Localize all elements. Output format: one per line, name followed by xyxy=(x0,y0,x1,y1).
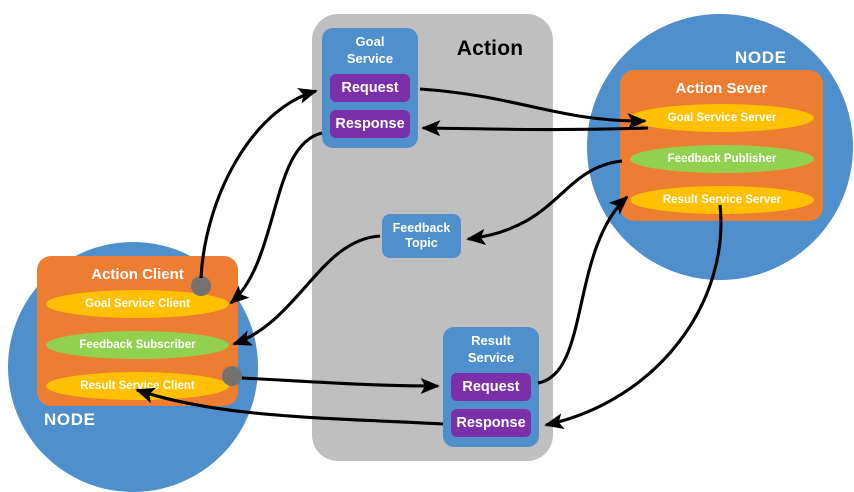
goal-client-connector-dot xyxy=(191,276,211,296)
result-service-title-line2: Service xyxy=(443,349,539,366)
result-service-client-pill: Result Service Client xyxy=(46,372,229,400)
goal-service-title: Goal Service xyxy=(322,33,418,67)
result-service-request: Request xyxy=(451,373,531,401)
client-node-label: NODE xyxy=(44,408,134,432)
result-client-connector-dot xyxy=(222,366,242,386)
server-node-label: NODE xyxy=(735,46,825,70)
action-container-label: Action xyxy=(430,34,550,64)
goal-service-box: Goal Service Request Response xyxy=(322,28,418,148)
goal-service-title-line1: Goal xyxy=(322,33,418,50)
action-server-box: Action Sever Goal Service Server Feedbac… xyxy=(620,70,823,221)
goal-service-response: Response xyxy=(330,110,410,138)
goal-service-request: Request xyxy=(330,74,410,102)
feedback-publisher-pill: Feedback Publisher xyxy=(630,145,814,173)
feedback-subscriber-pill: Feedback Subscriber xyxy=(46,331,229,359)
arrow-goal-response-to-client xyxy=(231,133,322,303)
feedback-topic-box: Feedback Topic xyxy=(382,214,461,258)
result-service-box: Result Service Request Response xyxy=(443,327,539,447)
arrow-goal-client-to-request xyxy=(201,91,316,278)
feedback-topic-line1: Feedback xyxy=(393,221,451,236)
feedback-topic-line2: Topic xyxy=(405,236,437,251)
result-service-title-line1: Result xyxy=(443,332,539,349)
goal-service-title-line2: Service xyxy=(322,50,418,67)
goal-service-server-pill: Goal Service Server xyxy=(630,104,814,132)
action-server-title: Action Sever xyxy=(620,78,823,100)
result-service-response: Response xyxy=(451,409,531,437)
diagram-canvas: Action Action Client Goal Service Client… xyxy=(0,0,854,480)
result-service-title: Result Service xyxy=(443,332,539,366)
result-service-server-pill: Result Service Server xyxy=(630,186,814,214)
